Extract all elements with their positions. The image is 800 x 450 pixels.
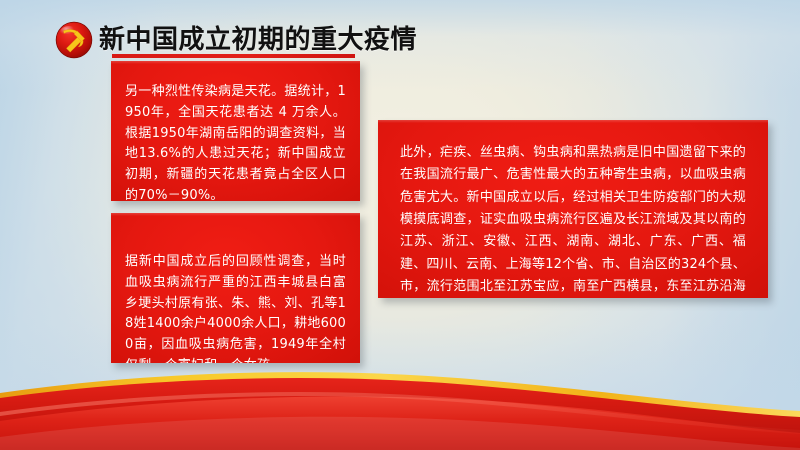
schistosomiasis-survey-panel: 据新中国成立后的回顾性调查，当时血吸虫病流行严重的江西丰城县白富乡埂头村原有张、… <box>111 213 360 363</box>
page-title: 新中国成立初期的重大疫情 <box>99 27 417 53</box>
title-underline-bar <box>112 54 355 58</box>
parasitic-diseases-panel-text: 此外，疟疾、丝虫病、钩虫病和黑热病是旧中国遗留下来的在我国流行最广、危害性最大的… <box>400 142 746 298</box>
schistosomiasis-panel-text: 据新中国成立后的回顾性调查，当时血吸虫病流行严重的江西丰城县白富乡埂头村原有张、… <box>125 252 346 363</box>
ccp-party-emblem-icon <box>55 21 93 59</box>
slide-canvas: 新中国成立初期的重大疫情 另一种烈性传染病是天花。据统计，1950年，全国天花患… <box>0 0 800 450</box>
smallpox-panel-text: 另一种烈性传染病是天花。据统计，1950年，全国天花患者达 4 万余人。根据19… <box>125 82 346 201</box>
parasitic-diseases-panel: 此外，疟疾、丝虫病、钩虫病和黑热病是旧中国遗留下来的在我国流行最广、危害性最大的… <box>378 120 768 298</box>
smallpox-info-panel: 另一种烈性传染病是天花。据统计，1950年，全国天花患者达 4 万余人。根据19… <box>111 61 360 201</box>
